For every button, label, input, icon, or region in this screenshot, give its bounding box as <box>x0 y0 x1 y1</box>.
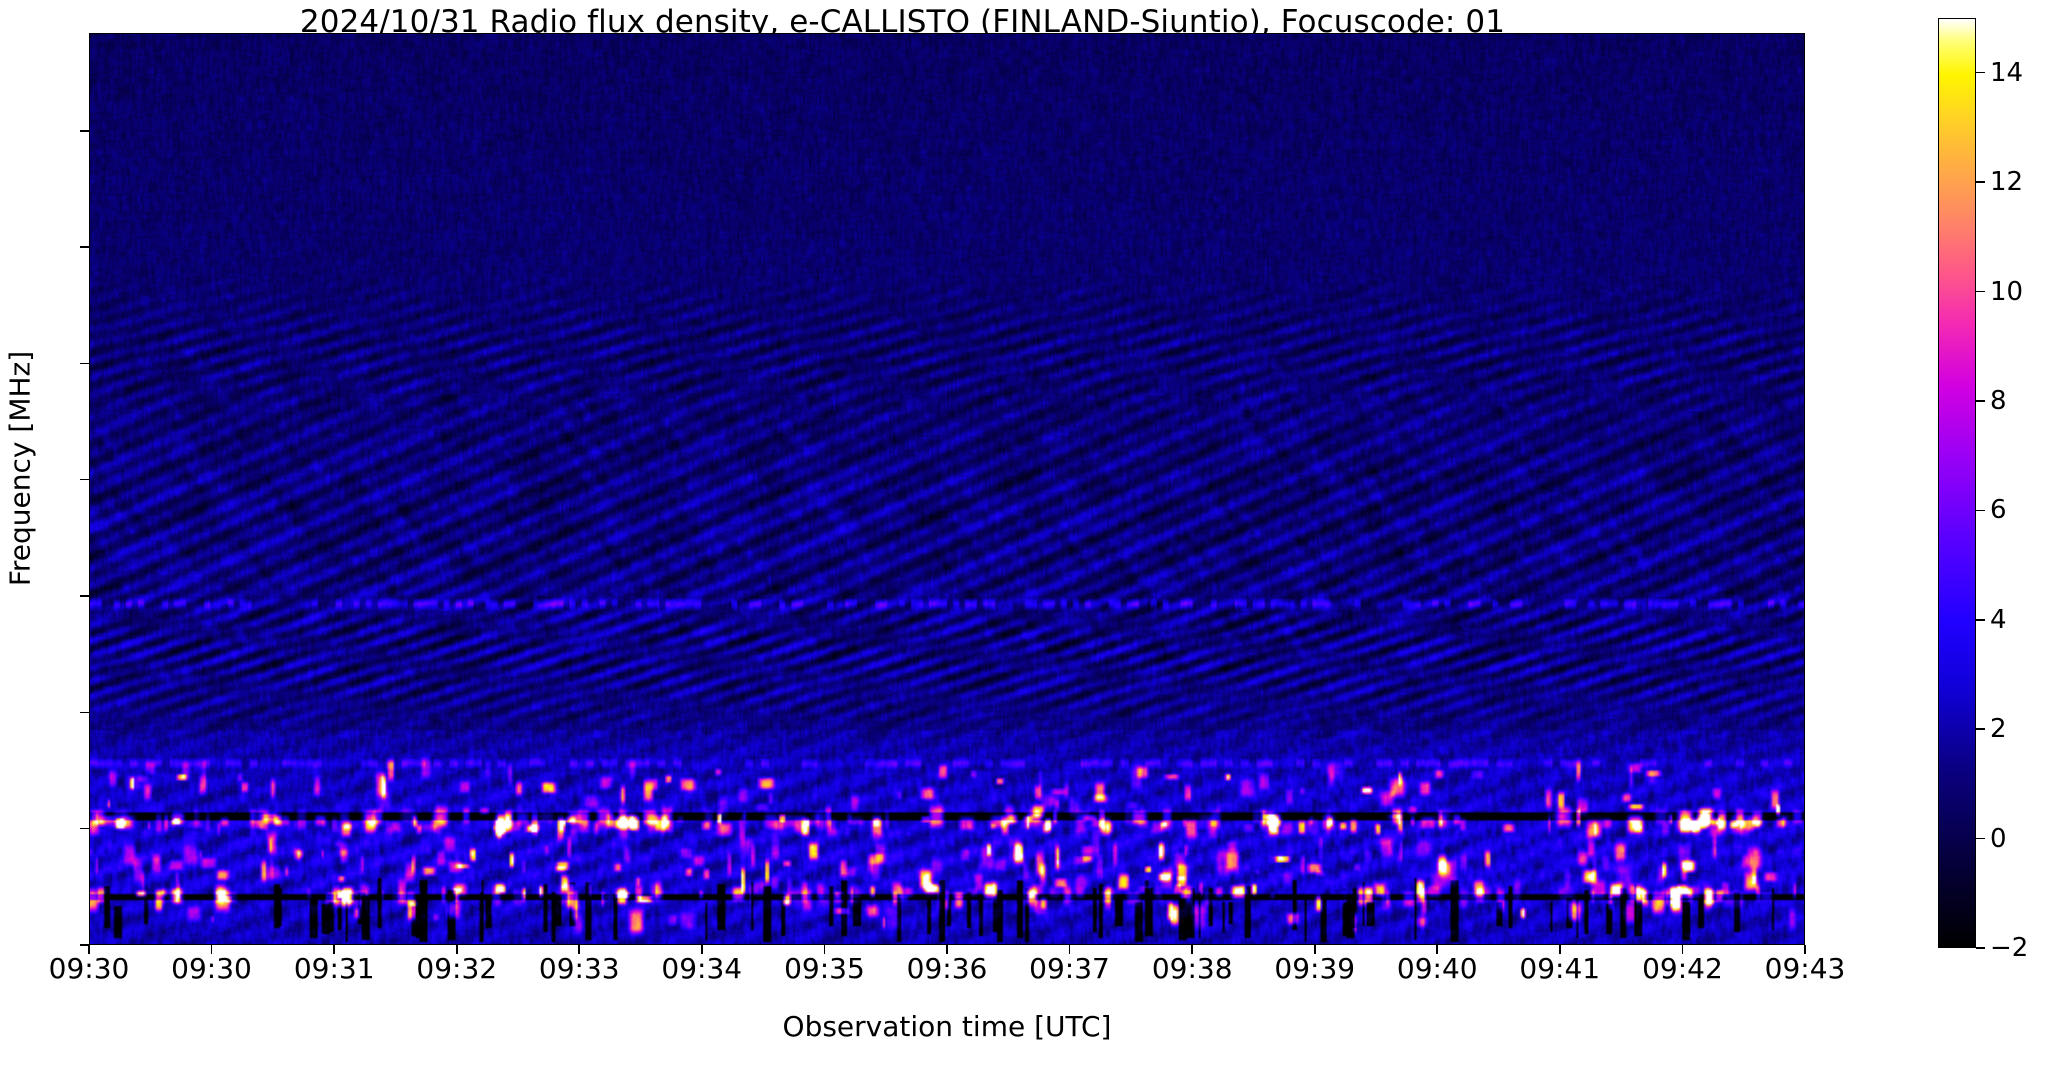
colorbar-tick-label: 14 <box>1990 58 2023 88</box>
x-tick-mark <box>946 945 948 954</box>
x-tick-mark <box>578 945 580 954</box>
spectrogram-figure: 2024/10/31 Radio flux density, e-CALLIST… <box>0 0 2066 1067</box>
x-tick-label: 09:37 <box>1029 952 1110 985</box>
y-tick-mark <box>80 479 89 481</box>
colorbar-tick-mark <box>1976 181 1985 183</box>
y-tick-mark <box>80 130 89 132</box>
x-tick-mark <box>1682 945 1684 954</box>
y-tick-mark <box>80 246 89 248</box>
x-tick-mark <box>1804 945 1806 954</box>
colorbar-tick-mark <box>1976 728 1985 730</box>
x-tick-mark <box>1559 945 1561 954</box>
y-tick-mark <box>80 712 89 714</box>
spectrogram-axes <box>89 33 1805 945</box>
x-tick-label: 09:41 <box>1519 952 1600 985</box>
y-tick-mark <box>80 828 89 830</box>
x-tick-label: 09:30 <box>49 952 130 985</box>
colorbar-tick-mark <box>1976 291 1985 293</box>
colorbar-tick-mark <box>1976 72 1985 74</box>
x-tick-label: 09:32 <box>416 952 497 985</box>
colorbar-gradient <box>1938 18 1976 948</box>
colorbar-tick-mark <box>1976 400 1985 402</box>
colorbar-tick-label: 4 <box>1990 605 2007 635</box>
x-tick-mark <box>211 945 213 954</box>
x-tick-label: 09:33 <box>539 952 620 985</box>
spectrogram-image <box>90 34 1804 944</box>
x-tick-mark <box>333 945 335 954</box>
colorbar-tick-mark <box>1976 510 1985 512</box>
colorbar-tick-label: 2 <box>1990 714 2007 744</box>
x-tick-mark <box>1314 945 1316 954</box>
colorbar-tick-mark <box>1976 619 1985 621</box>
colorbar-tick-label: 12 <box>1990 167 2023 197</box>
x-tick-label: 09:39 <box>1274 952 1355 985</box>
colorbar-tick-label: 10 <box>1990 277 2023 307</box>
colorbar-tick-mark <box>1976 947 1985 949</box>
x-tick-mark <box>824 945 826 954</box>
x-tick-label: 09:38 <box>1152 952 1233 985</box>
x-tick-label: 09:34 <box>661 952 742 985</box>
x-tick-label: 09:43 <box>1765 952 1846 985</box>
x-tick-label: 09:42 <box>1642 952 1723 985</box>
y-axis-label: Frequency [MHz] <box>4 13 37 925</box>
colorbar-tick-label: 6 <box>1990 495 2007 525</box>
x-tick-mark <box>1191 945 1193 954</box>
colorbar-tick-label: −2 <box>1990 933 2028 963</box>
x-tick-label: 09:30 <box>171 952 252 985</box>
x-tick-mark <box>88 945 90 954</box>
x-axis-label: Observation time [UTC] <box>89 1010 1805 1043</box>
x-tick-label: 09:40 <box>1397 952 1478 985</box>
x-tick-label: 09:35 <box>784 952 865 985</box>
x-tick-label: 09:36 <box>907 952 988 985</box>
x-tick-mark <box>456 945 458 954</box>
x-tick-mark <box>1069 945 1071 954</box>
y-tick-mark <box>80 595 89 597</box>
colorbar-tick-label: 0 <box>1990 824 2007 854</box>
x-tick-mark <box>1436 945 1438 954</box>
colorbar-tick-label: 8 <box>1990 386 2007 416</box>
colorbar-tick-mark <box>1976 838 1985 840</box>
y-tick-mark <box>80 363 89 365</box>
x-tick-label: 09:31 <box>294 952 375 985</box>
x-tick-mark <box>701 945 703 954</box>
